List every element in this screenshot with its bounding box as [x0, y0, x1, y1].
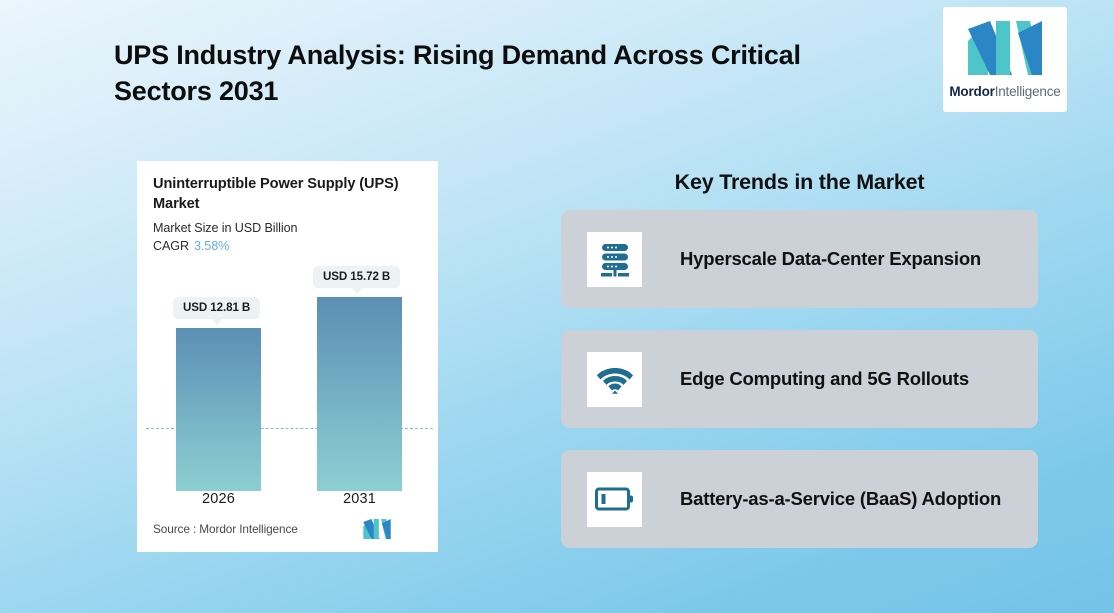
- x-tick-2026: 2026: [176, 491, 261, 507]
- chart-footer: Source : Mordor Intelligence: [137, 516, 438, 542]
- server-rack-icon: [587, 232, 642, 287]
- cagr-label: CAGR: [153, 239, 189, 253]
- trend-card-hyperscale-data-center[interactable]: Hyperscale Data-Center Expansion: [561, 210, 1038, 308]
- chart-card: Uninterruptible Power Supply (UPS) Marke…: [137, 161, 438, 552]
- x-tick-2031: 2031: [317, 491, 402, 507]
- brand-name-bold: Mordor: [949, 84, 994, 99]
- x-axis-labels: 2026 2031: [137, 491, 438, 519]
- value-label-2026: USD 12.81 B: [173, 297, 260, 319]
- brand-name-light: Intelligence: [995, 84, 1061, 99]
- page-title: UPS Industry Analysis: Rising Demand Acr…: [114, 38, 884, 109]
- bar-2026: [176, 328, 261, 491]
- mordor-intelligence-logo: MordorIntelligence: [943, 7, 1067, 112]
- value-label-2031: USD 15.72 B: [313, 266, 400, 288]
- key-trends-list: Hyperscale Data-Center Expansion Edge Co…: [561, 210, 1038, 570]
- trend-card-edge-computing-5g[interactable]: Edge Computing and 5G Rollouts: [561, 330, 1038, 428]
- bar-2031: [317, 297, 402, 491]
- key-trends-heading: Key Trends in the Market: [561, 170, 1038, 195]
- trend-label: Battery-as-a-Service (BaaS) Adoption: [680, 486, 1001, 513]
- trend-card-battery-as-a-service[interactable]: Battery-as-a-Service (BaaS) Adoption: [561, 450, 1038, 548]
- mordor-logo-mark-small: [362, 519, 392, 539]
- source-label: Source : Mordor Intelligence: [153, 522, 298, 536]
- trend-label: Edge Computing and 5G Rollouts: [680, 366, 969, 393]
- battery-icon: [587, 472, 642, 527]
- brand-wordmark: MordorIntelligence: [949, 84, 1060, 99]
- wifi-signal-icon: [587, 352, 642, 407]
- chart-subtitle: Market Size in USD Billion: [153, 221, 422, 235]
- mordor-logo-mark: [966, 21, 1044, 75]
- chart-cagr: CAGR3.58%: [153, 239, 422, 253]
- chart-header: Uninterruptible Power Supply (UPS) Marke…: [137, 161, 438, 253]
- chart-title: Uninterruptible Power Supply (UPS) Marke…: [153, 175, 422, 215]
- cagr-value: 3.58%: [194, 239, 229, 253]
- bar-chart-plot: USD 12.81 B USD 15.72 B: [137, 259, 438, 491]
- trend-label: Hyperscale Data-Center Expansion: [680, 246, 981, 273]
